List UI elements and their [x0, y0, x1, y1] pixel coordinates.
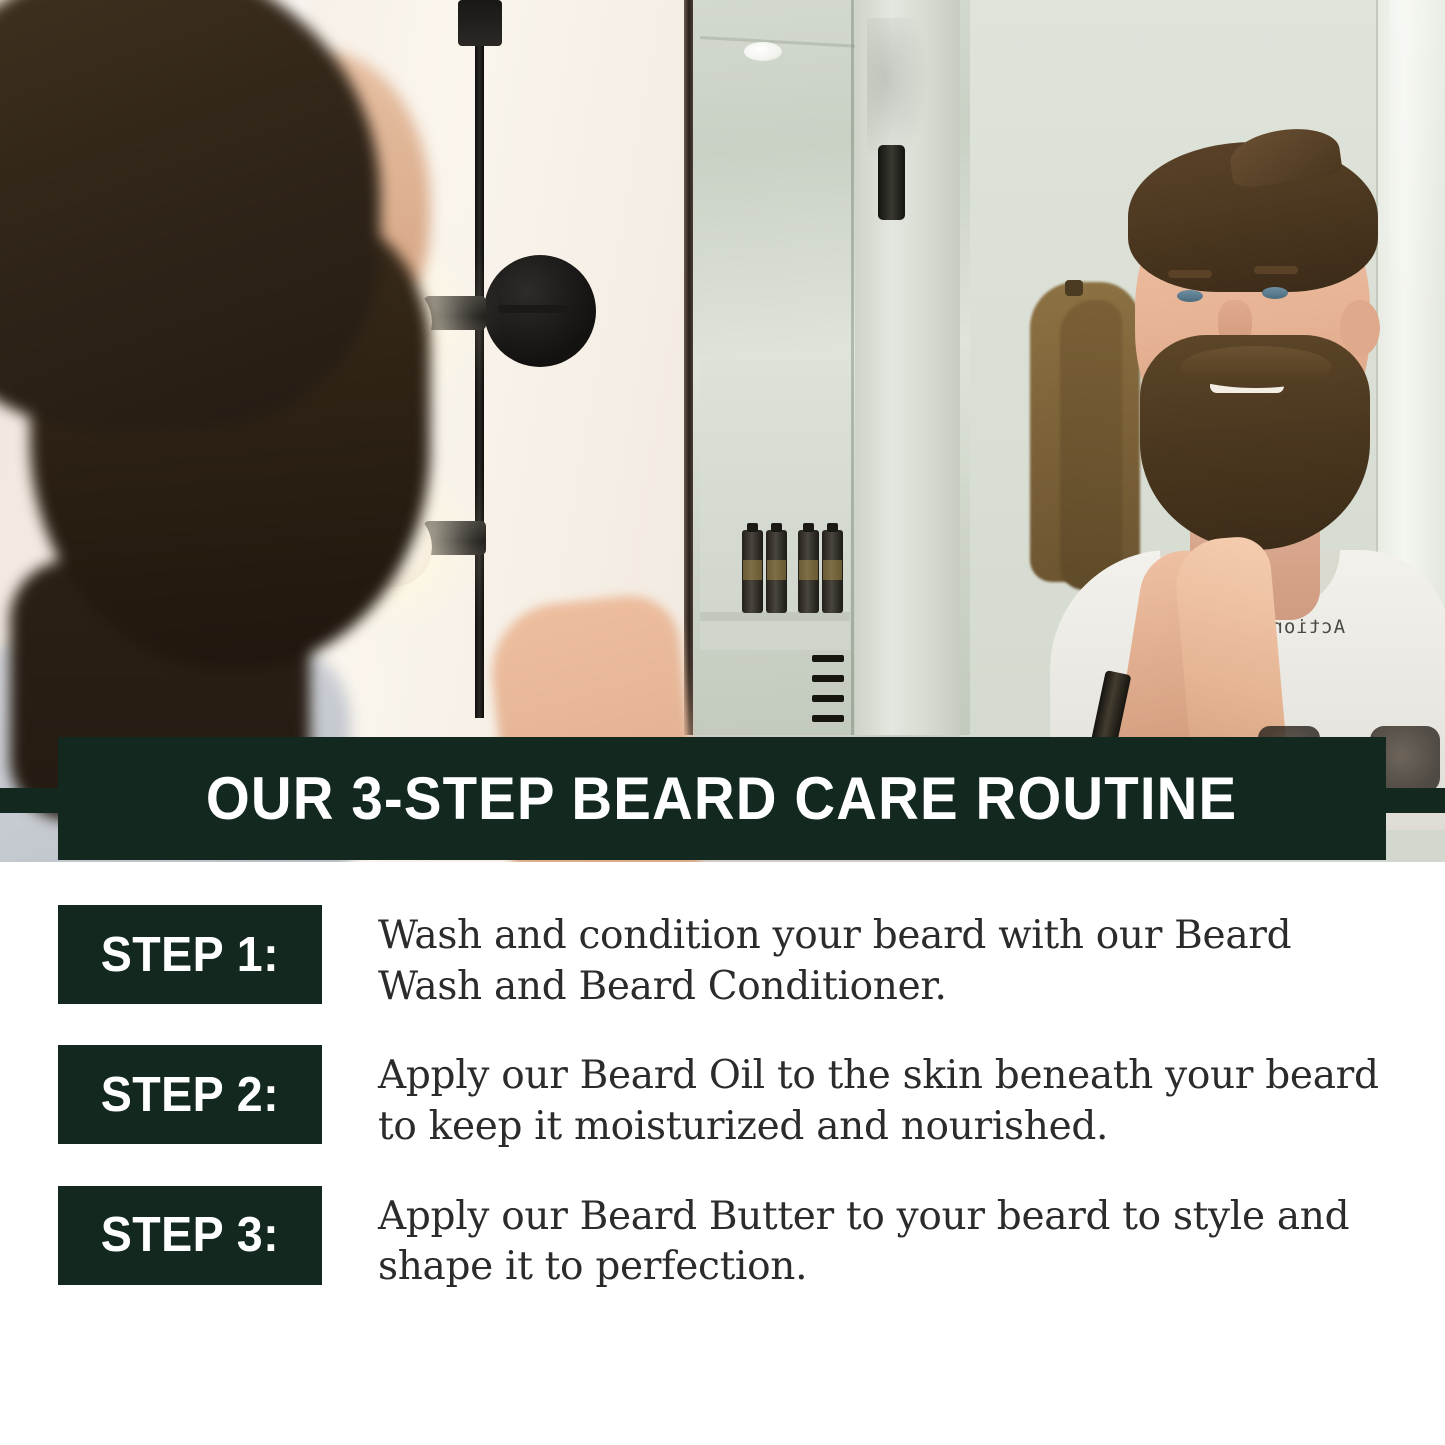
ceiling-downlight-icon: [744, 42, 782, 61]
step-1-badge: STEP 1:: [58, 905, 322, 1004]
step-3-badge: STEP 3:: [58, 1186, 322, 1285]
product-bottle: [766, 530, 787, 613]
steps-list: STEP 1: Wash and condition your beard wi…: [0, 905, 1445, 1326]
reflected-eye: [1262, 287, 1288, 299]
marble-wall: [855, 0, 960, 735]
shower-handle-icon: [878, 145, 905, 220]
step-item: STEP 2: Apply our Beard Oil to the skin …: [0, 1045, 1445, 1152]
banner: OUR 3-STEP BEARD CARE ROUTINE: [58, 737, 1386, 860]
product-bottle: [798, 530, 819, 613]
reflected-moustache: [1180, 346, 1332, 388]
sconce-arm: [498, 305, 568, 313]
foreground-man-blurred: [0, 0, 500, 860]
hero-photo: Actions: [0, 0, 1445, 862]
shower-glass-seam: [851, 0, 854, 735]
reflected-eyebrow: [1168, 270, 1212, 278]
shower-fixture-icon: [812, 655, 844, 725]
mirror-frame: [684, 0, 693, 735]
reflected-eyebrow: [1254, 266, 1298, 274]
step-3-label: STEP 3:: [101, 1207, 279, 1263]
product-bottle: [822, 530, 843, 613]
product-bottle: [742, 530, 763, 613]
foreground-hair: [0, 0, 380, 430]
step-2-label: STEP 2:: [101, 1067, 279, 1123]
step-1-label: STEP 1:: [101, 927, 279, 983]
step-item: STEP 1: Wash and condition your beard wi…: [0, 905, 1445, 1012]
page-title: OUR 3-STEP BEARD CARE ROUTINE: [206, 764, 1237, 833]
step-1-description: Wash and condition your beard with our B…: [378, 905, 1385, 1012]
reflected-eye: [1177, 290, 1203, 302]
beard-care-routine-infographic: Actions OUR 3-STEP BEARD CA: [0, 0, 1445, 1445]
reflected-ear: [1340, 300, 1380, 356]
niche-shelf: [700, 612, 850, 621]
step-2-description: Apply our Beard Oil to the skin beneath …: [378, 1045, 1385, 1152]
step-2-badge: STEP 2:: [58, 1045, 322, 1144]
step-3-description: Apply our Beard Butter to your beard to …: [378, 1186, 1385, 1293]
step-item: STEP 3: Apply our Beard Butter to your b…: [0, 1186, 1445, 1293]
